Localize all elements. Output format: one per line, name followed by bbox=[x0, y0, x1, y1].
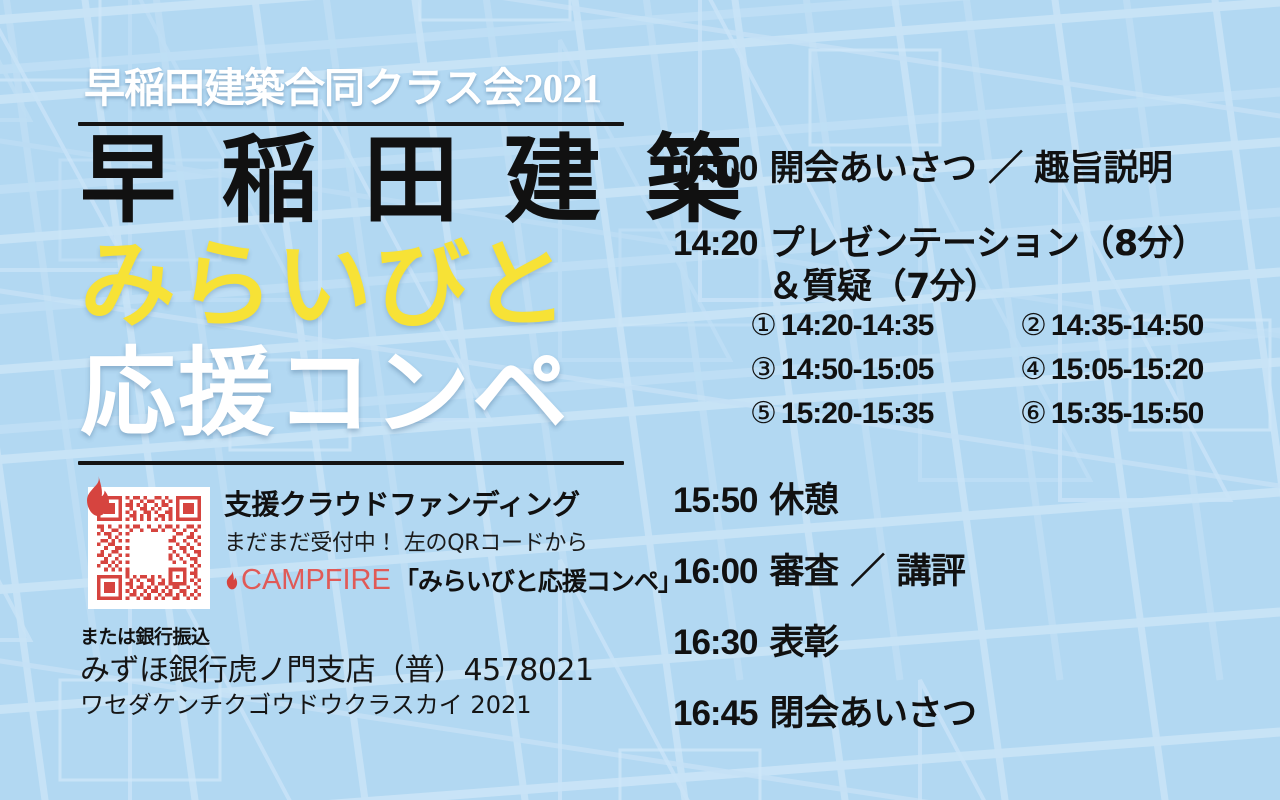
slot-number: ① bbox=[750, 309, 776, 342]
bank-account-line: みずほ銀行虎ノ門支店（普）4578021 bbox=[80, 652, 594, 690]
campfire-project-name: 「みらいびと応援コンペ」 bbox=[394, 562, 682, 598]
bank-holder-line: ワセダケンチクゴウドウクラスカイ 2021 bbox=[80, 690, 594, 720]
schedule-time: 15:50 bbox=[673, 481, 758, 521]
schedule-label: 休憩 bbox=[770, 472, 839, 523]
presentation-slot-grid: ①14:20-14:35 ②14:35-14:50 ③14:50-15:05 ④… bbox=[750, 308, 1280, 440]
schedule-label: 審査 ／ 講評 bbox=[770, 543, 966, 594]
slot-range: 15:35-15:50 bbox=[1051, 397, 1203, 430]
schedule-label-continuation: ＆質疑（7分） bbox=[768, 258, 999, 309]
crowdfunding-text: 支援クラウドファンディング まだまだ受付中！ 左のQRコードから CAMPFIR… bbox=[224, 487, 682, 598]
schedule-row: 14:00 開会あいさつ ／ 趣旨説明 bbox=[673, 140, 1172, 191]
slot-number: ③ bbox=[750, 353, 776, 386]
slot-row: ③14:50-15:05 ④15:05-15:20 bbox=[750, 352, 1280, 387]
slot-number: ⑤ bbox=[750, 397, 776, 430]
flame-icon bbox=[80, 476, 114, 516]
slot-number: ② bbox=[1020, 309, 1046, 342]
schedule-label: 開会あいさつ ／ 趣旨説明 bbox=[770, 140, 1173, 191]
title-line-2: みらいびと bbox=[80, 238, 570, 332]
slot-range: 15:20-15:35 bbox=[781, 397, 933, 430]
flame-icon bbox=[224, 570, 239, 590]
crowdfunding-subtitle: まだまだ受付中！ 左のQRコードから bbox=[224, 525, 682, 557]
schedule-row: 16:30 表彰 bbox=[673, 614, 839, 665]
slot-row: ①14:20-14:35 ②14:35-14:50 bbox=[750, 308, 1280, 343]
slot-item: ⑥15:35-15:50 bbox=[1020, 396, 1264, 431]
title-line-3: 応援コンペ bbox=[80, 346, 570, 440]
slot-item: ③14:50-15:05 bbox=[750, 352, 994, 387]
schedule-time: 16:45 bbox=[673, 694, 758, 734]
campfire-wordmark: CAMPFIRE bbox=[241, 564, 391, 597]
title-column: 早稲田建築合同クラス会2021 早 稲 田 建 築 みらいびと 応援コンペ bbox=[0, 0, 660, 800]
schedule-time: 14:00 bbox=[673, 149, 758, 189]
schedule-column: 14:00 開会あいさつ ／ 趣旨説明 14:20 プレゼンテーション（8分） … bbox=[660, 0, 1280, 800]
event-kicker: 早稲田建築合同クラス会2021 bbox=[84, 68, 601, 109]
bank-transfer-block: または銀行振込 みずほ銀行虎ノ門支店（普）4578021 ワセダケンチクゴウドウ… bbox=[80, 626, 594, 720]
schedule-row: 16:00 審査 ／ 講評 bbox=[673, 543, 965, 594]
bank-transfer-label: または銀行振込 bbox=[80, 626, 594, 649]
slot-number: ④ bbox=[1020, 353, 1046, 386]
campfire-brand-line[interactable]: CAMPFIRE 「みらいびと応援コンペ」 bbox=[224, 562, 682, 598]
slot-item: ⑤15:20-15:35 bbox=[750, 396, 994, 431]
slot-number: ⑥ bbox=[1020, 397, 1046, 430]
divider-bottom bbox=[78, 461, 624, 465]
crowdfunding-title: 支援クラウドファンディング bbox=[224, 489, 682, 521]
slot-item: ②14:35-14:50 bbox=[1020, 308, 1264, 343]
crowdfunding-block: 支援クラウドファンディング まだまだ受付中！ 左のQRコードから CAMPFIR… bbox=[88, 487, 682, 609]
schedule-label: 閉会あいさつ bbox=[770, 685, 977, 736]
slot-row: ⑤15:20-15:35 ⑥15:35-15:50 bbox=[750, 396, 1280, 431]
slot-range: 15:05-15:20 bbox=[1051, 353, 1203, 386]
qr-code[interactable] bbox=[88, 487, 210, 609]
slot-range: 14:50-15:05 bbox=[781, 353, 933, 386]
schedule-label: 表彰 bbox=[770, 614, 839, 665]
schedule-time: 16:30 bbox=[673, 623, 758, 663]
slot-range: 14:20-14:35 bbox=[781, 309, 933, 342]
poster-canvas: 早稲田建築合同クラス会2021 早 稲 田 建 築 みらいびと 応援コンペ bbox=[0, 0, 1280, 800]
slot-range: 14:35-14:50 bbox=[1051, 309, 1203, 342]
schedule-row: 15:50 休憩 bbox=[673, 472, 839, 523]
slot-item: ④15:05-15:20 bbox=[1020, 352, 1264, 387]
schedule-time: 16:00 bbox=[673, 552, 758, 592]
slot-item: ①14:20-14:35 bbox=[750, 308, 994, 343]
schedule-row: 16:45 閉会あいさつ bbox=[673, 685, 977, 736]
title-line-1: 早 稲 田 建 築 bbox=[80, 133, 748, 227]
schedule-time: 14:20 bbox=[673, 224, 758, 264]
